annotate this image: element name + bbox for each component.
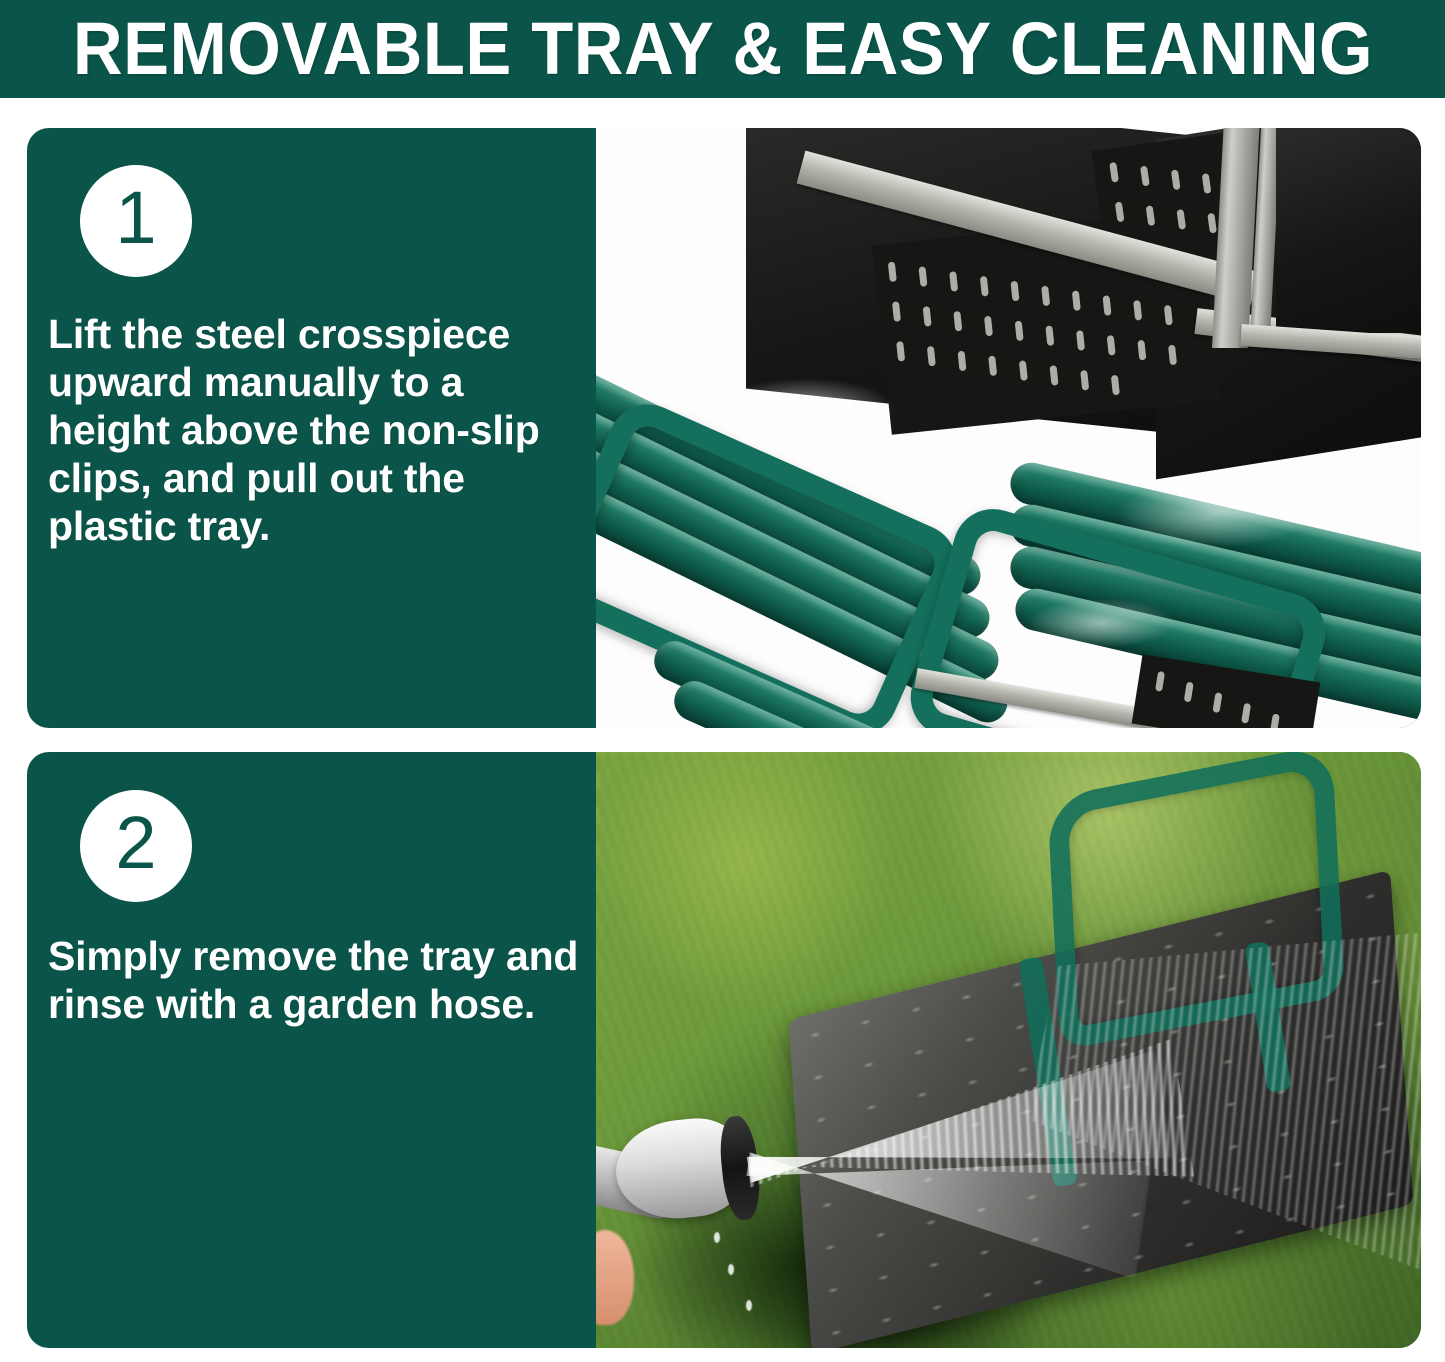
page-title: REMOVABLE TRAY & EASY CLEANING [72, 10, 1372, 88]
step-panel-2: 2 Simply remove the tray and rinse with … [27, 752, 1421, 1348]
step-1-number-badge: 1 [80, 165, 192, 277]
step-1-number: 1 [115, 181, 156, 255]
back-panel-dark [1276, 128, 1421, 333]
step-2-number: 2 [115, 806, 156, 880]
hose-rinsing-tray-image [596, 752, 1421, 1348]
step-1-description: Lift the steel crosspiece upward manuall… [48, 310, 593, 550]
step-2-text-column: 2 Simply remove the tray and rinse with … [27, 752, 596, 1348]
boot-rack-tray-closeup-image [596, 128, 1421, 728]
header-banner: REMOVABLE TRAY & EASY CLEANING [0, 0, 1445, 98]
step-2-photo [596, 752, 1421, 1348]
step-1-photo [596, 128, 1421, 728]
step-2-description: Simply remove the tray and rinse with a … [48, 932, 593, 1028]
step-1-text-column: 1 Lift the steel crosspiece upward manua… [27, 128, 596, 728]
step-panel-1: 1 Lift the steel crosspiece upward manua… [27, 128, 1421, 728]
step-2-number-badge: 2 [80, 790, 192, 902]
